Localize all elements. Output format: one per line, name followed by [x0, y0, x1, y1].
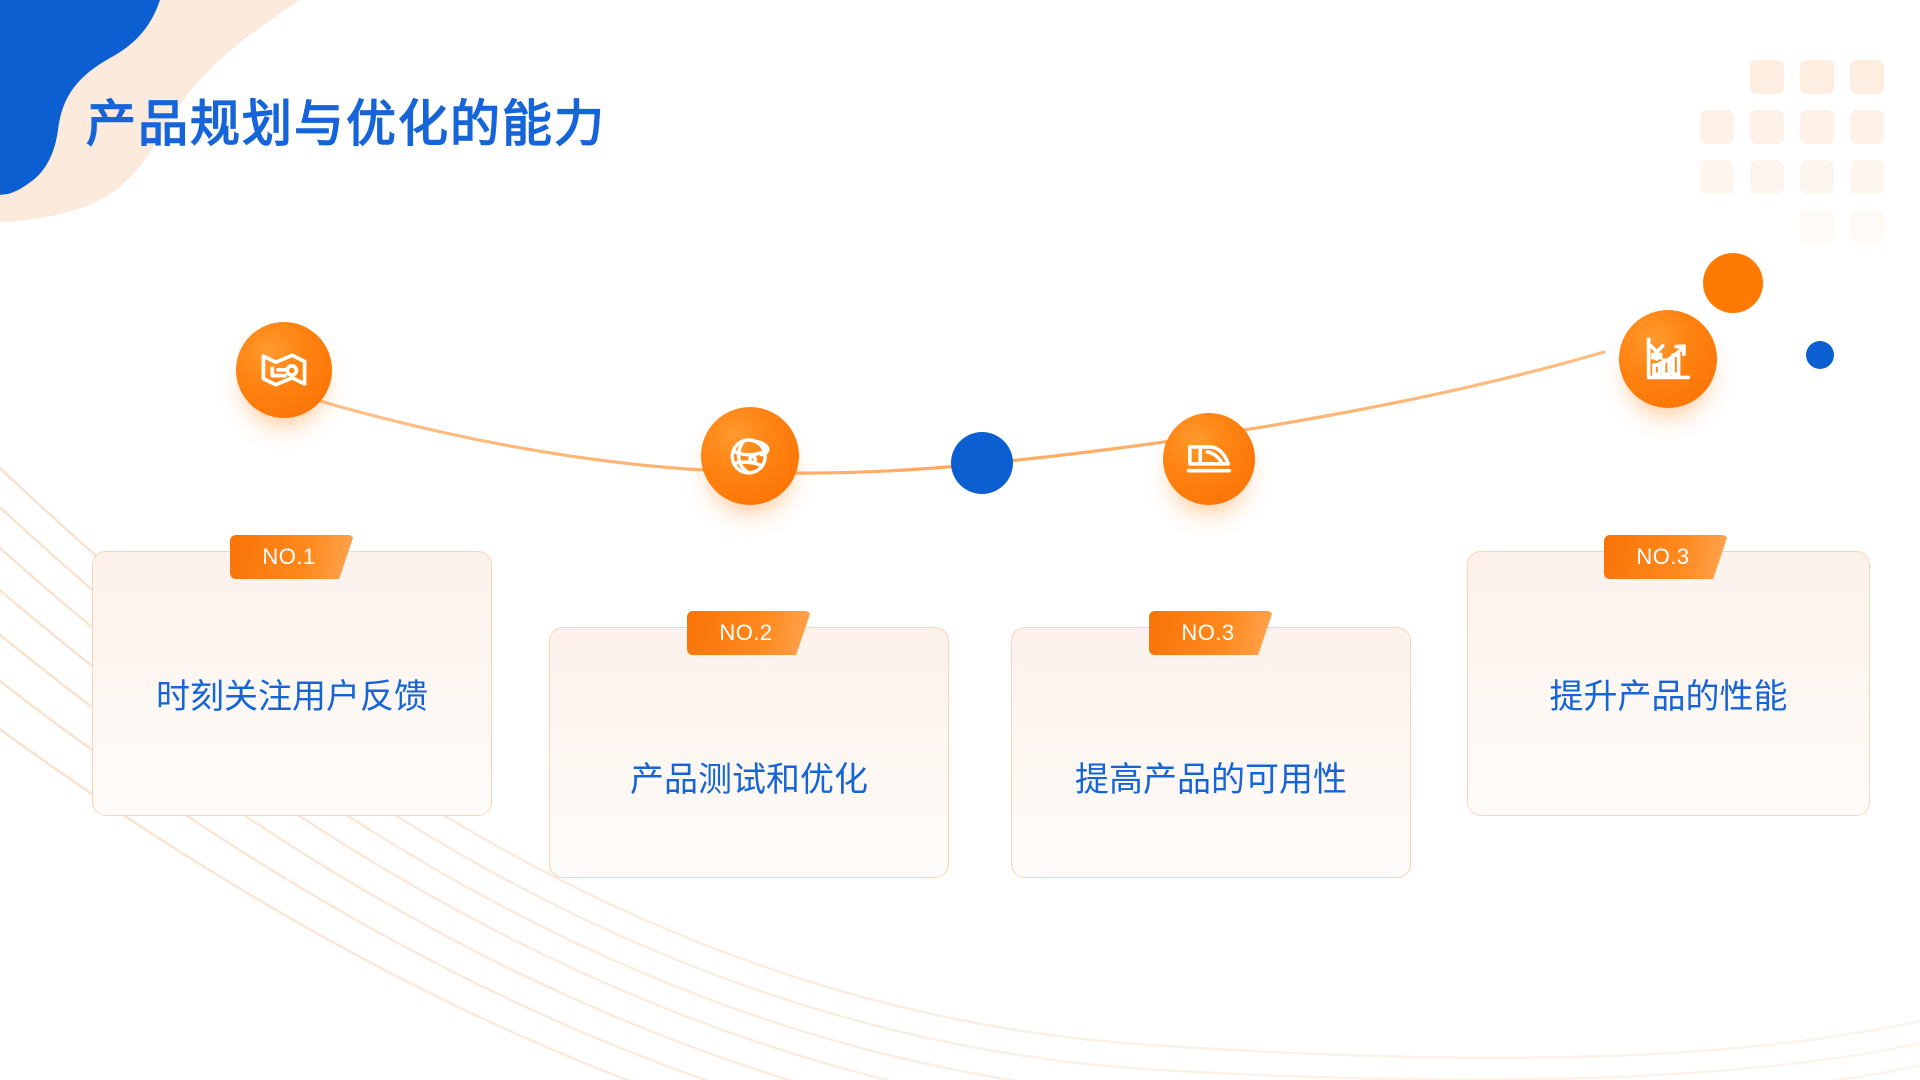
map-route-icon — [258, 344, 310, 396]
blue-accent-circle-mid — [951, 432, 1013, 494]
blue-accent-circle-small — [1806, 341, 1834, 369]
globe-icon — [724, 430, 776, 482]
card-badge-1: NO.1 — [230, 535, 354, 579]
card-text-1: 时刻关注用户反馈 — [92, 669, 492, 718]
dot-grid-cell — [1750, 160, 1784, 194]
dot-grid-cell — [1850, 60, 1884, 94]
dot-grid-cell — [1850, 210, 1884, 244]
card-text-4: 提升产品的性能 — [1467, 669, 1870, 718]
dot-grid-cell — [1700, 210, 1734, 244]
page-title: 产品规划与优化的能力 — [86, 84, 606, 156]
timeline-node-4[interactable] — [1619, 310, 1717, 408]
card-text-3: 提高产品的可用性 — [1011, 752, 1411, 801]
chart-yen-icon — [1641, 332, 1695, 386]
dot-grid-cell — [1800, 60, 1834, 94]
timeline-node-2[interactable] — [701, 407, 799, 505]
dot-grid-cell — [1700, 160, 1734, 194]
dot-grid-cell — [1750, 210, 1784, 244]
dot-grid — [1700, 60, 1880, 260]
dot-grid-cell — [1750, 60, 1784, 94]
card-badge-3: NO.3 — [1149, 611, 1273, 655]
dot-grid-cell — [1800, 210, 1834, 244]
dot-grid-cell — [1800, 160, 1834, 194]
dot-grid-cell — [1800, 110, 1834, 144]
dot-grid-cell — [1850, 160, 1884, 194]
dot-grid-cell — [1750, 110, 1784, 144]
dot-grid-cell — [1700, 60, 1734, 94]
timeline-node-3[interactable] — [1163, 413, 1255, 505]
timeline-node-1[interactable] — [236, 322, 332, 418]
orange-accent-circle — [1703, 253, 1763, 313]
dot-grid-cell — [1850, 110, 1884, 144]
card-text-2: 产品测试和优化 — [549, 752, 949, 801]
card-badge-2: NO.2 — [687, 611, 811, 655]
card-badge-4: NO.3 — [1604, 535, 1728, 579]
dot-grid-cell — [1700, 110, 1734, 144]
slide-canvas: 产品规划与优化的能力 — [0, 0, 1920, 1080]
train-icon — [1184, 434, 1234, 484]
